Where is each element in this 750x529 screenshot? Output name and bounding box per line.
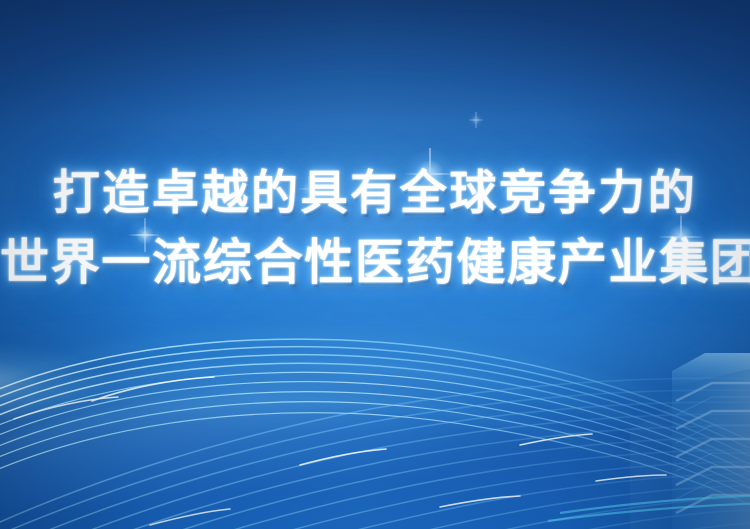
banner-canvas: 打造卓越的具有全球竞争力的 世界一流综合性医药健康产业集团: [0, 0, 750, 529]
vignette-overlay: [0, 0, 750, 529]
